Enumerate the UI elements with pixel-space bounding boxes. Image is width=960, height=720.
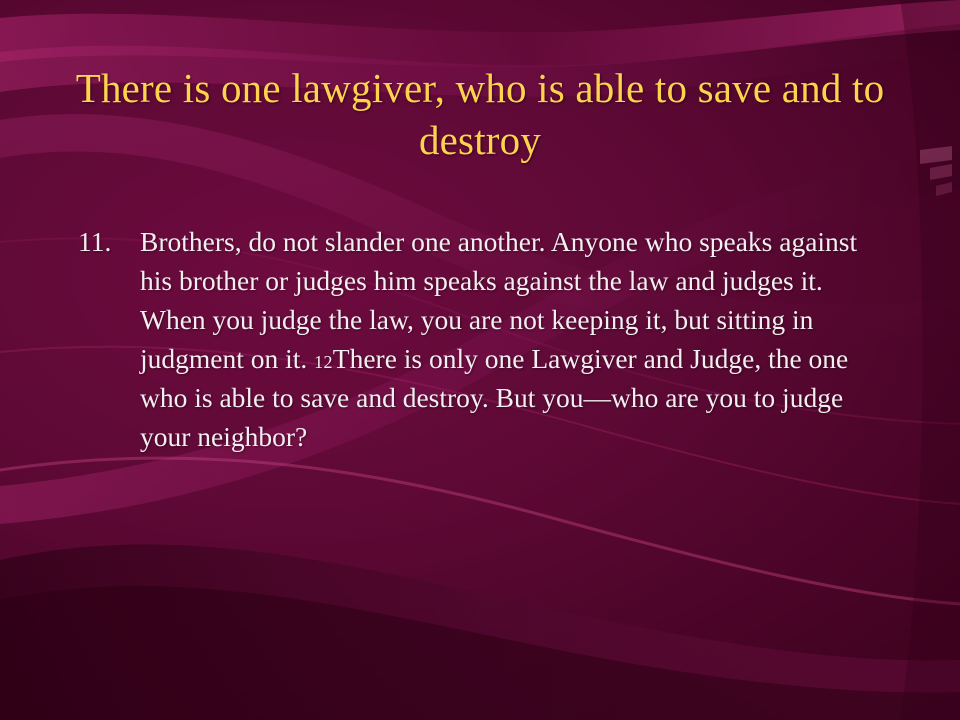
bullet-text: Brothers, do not slander one another. An… (140, 222, 878, 456)
slide-title: There is one lawgiver, who is able to sa… (40, 62, 920, 167)
slide-body: 11. Brothers, do not slander one another… (78, 222, 878, 456)
bullet-number: 11. (78, 222, 140, 261)
bullet-item: 11. Brothers, do not slander one another… (78, 222, 878, 456)
verse-number-marker: 12 (314, 352, 333, 372)
slide-canvas: There is one lawgiver, who is able to sa… (0, 0, 960, 720)
